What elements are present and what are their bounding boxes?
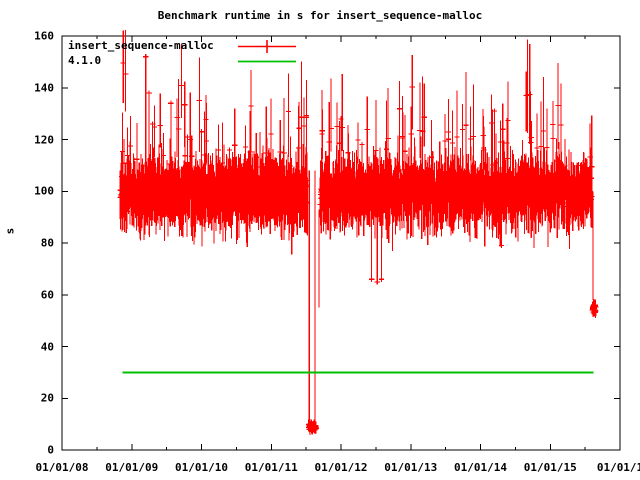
legend-label-series1: insert_sequence-malloc xyxy=(68,39,214,52)
series-insert-sequence-malloc xyxy=(117,30,598,435)
plot-canvas xyxy=(0,0,640,480)
y-tick-label: 20 xyxy=(8,392,54,405)
y-tick-label: 140 xyxy=(8,81,54,94)
legend-label-series2: 4.1.0 xyxy=(68,54,101,67)
x-tick-label: 01/01/15 xyxy=(524,461,577,474)
y-tick-label: 100 xyxy=(8,185,54,198)
y-tick-label: 40 xyxy=(8,340,54,353)
y-tick-label: 120 xyxy=(8,133,54,146)
x-tick-label: 01/01/14 xyxy=(454,461,507,474)
x-tick-label: 01/01/12 xyxy=(315,461,368,474)
x-tick-label: 01/01/13 xyxy=(384,461,437,474)
x-tick-label: 01/01/1 xyxy=(597,461,640,474)
x-tick-label: 01/01/11 xyxy=(245,461,298,474)
legend-sample-series2 xyxy=(236,54,298,69)
legend-entry-series1: insert_sequence-malloc xyxy=(68,39,318,54)
legend-entry-series2: 4.1.0 xyxy=(68,54,318,69)
y-tick-label: 0 xyxy=(8,444,54,457)
legend-sample-series1 xyxy=(236,39,298,54)
chart-container: Benchmark runtime in s for insert_sequen… xyxy=(0,0,640,480)
x-tick-label: 01/01/09 xyxy=(105,461,158,474)
legend: insert_sequence-malloc 4.1.0 xyxy=(68,39,318,69)
x-tick-label: 01/01/08 xyxy=(36,461,89,474)
y-tick-label: 60 xyxy=(8,288,54,301)
x-tick-label: 01/01/10 xyxy=(175,461,228,474)
y-tick-label: 80 xyxy=(8,237,54,250)
y-tick-label: 160 xyxy=(8,30,54,43)
